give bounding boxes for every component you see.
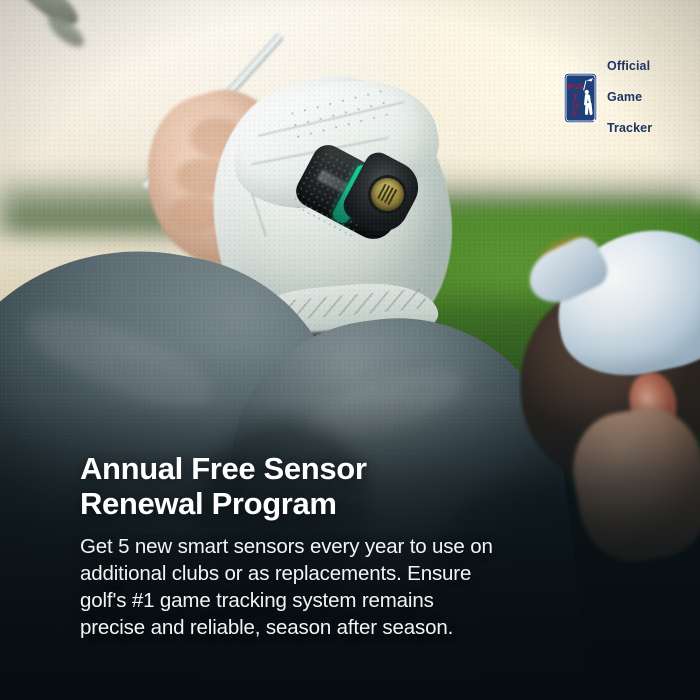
body-copy: Get 5 new smart sensors every year to us… xyxy=(80,534,610,641)
headline-line-2: Renewal Program xyxy=(80,487,610,522)
promo-banner: PGA T O U Official Game Tracker Annual F… xyxy=(0,0,700,700)
badge-line-1: Official xyxy=(607,59,652,74)
body-line-2: additional clubs or as replacements. Ens… xyxy=(80,561,610,588)
headline: Annual Free Sensor Renewal Program xyxy=(80,452,610,521)
headline-line-1: Annual Free Sensor xyxy=(80,452,610,487)
svg-text:PGA: PGA xyxy=(568,82,584,91)
badge-text: Official Game Tracker xyxy=(607,44,652,152)
badge-line-3: Tracker xyxy=(607,121,652,136)
svg-text:U: U xyxy=(572,108,578,118)
body-line-3: golf's #1 game tracking system remains xyxy=(80,588,610,615)
badge-line-2: Game xyxy=(607,90,652,105)
body-line-4: precise and reliable, season after seaso… xyxy=(80,615,610,642)
pga-tour-shield-icon: PGA T O U xyxy=(563,72,598,124)
pga-tour-badge: PGA T O U Official Game Tracker xyxy=(563,44,652,152)
body-line-1: Get 5 new smart sensors every year to us… xyxy=(80,534,610,561)
copy-block: Annual Free Sensor Renewal Program Get 5… xyxy=(80,452,610,642)
